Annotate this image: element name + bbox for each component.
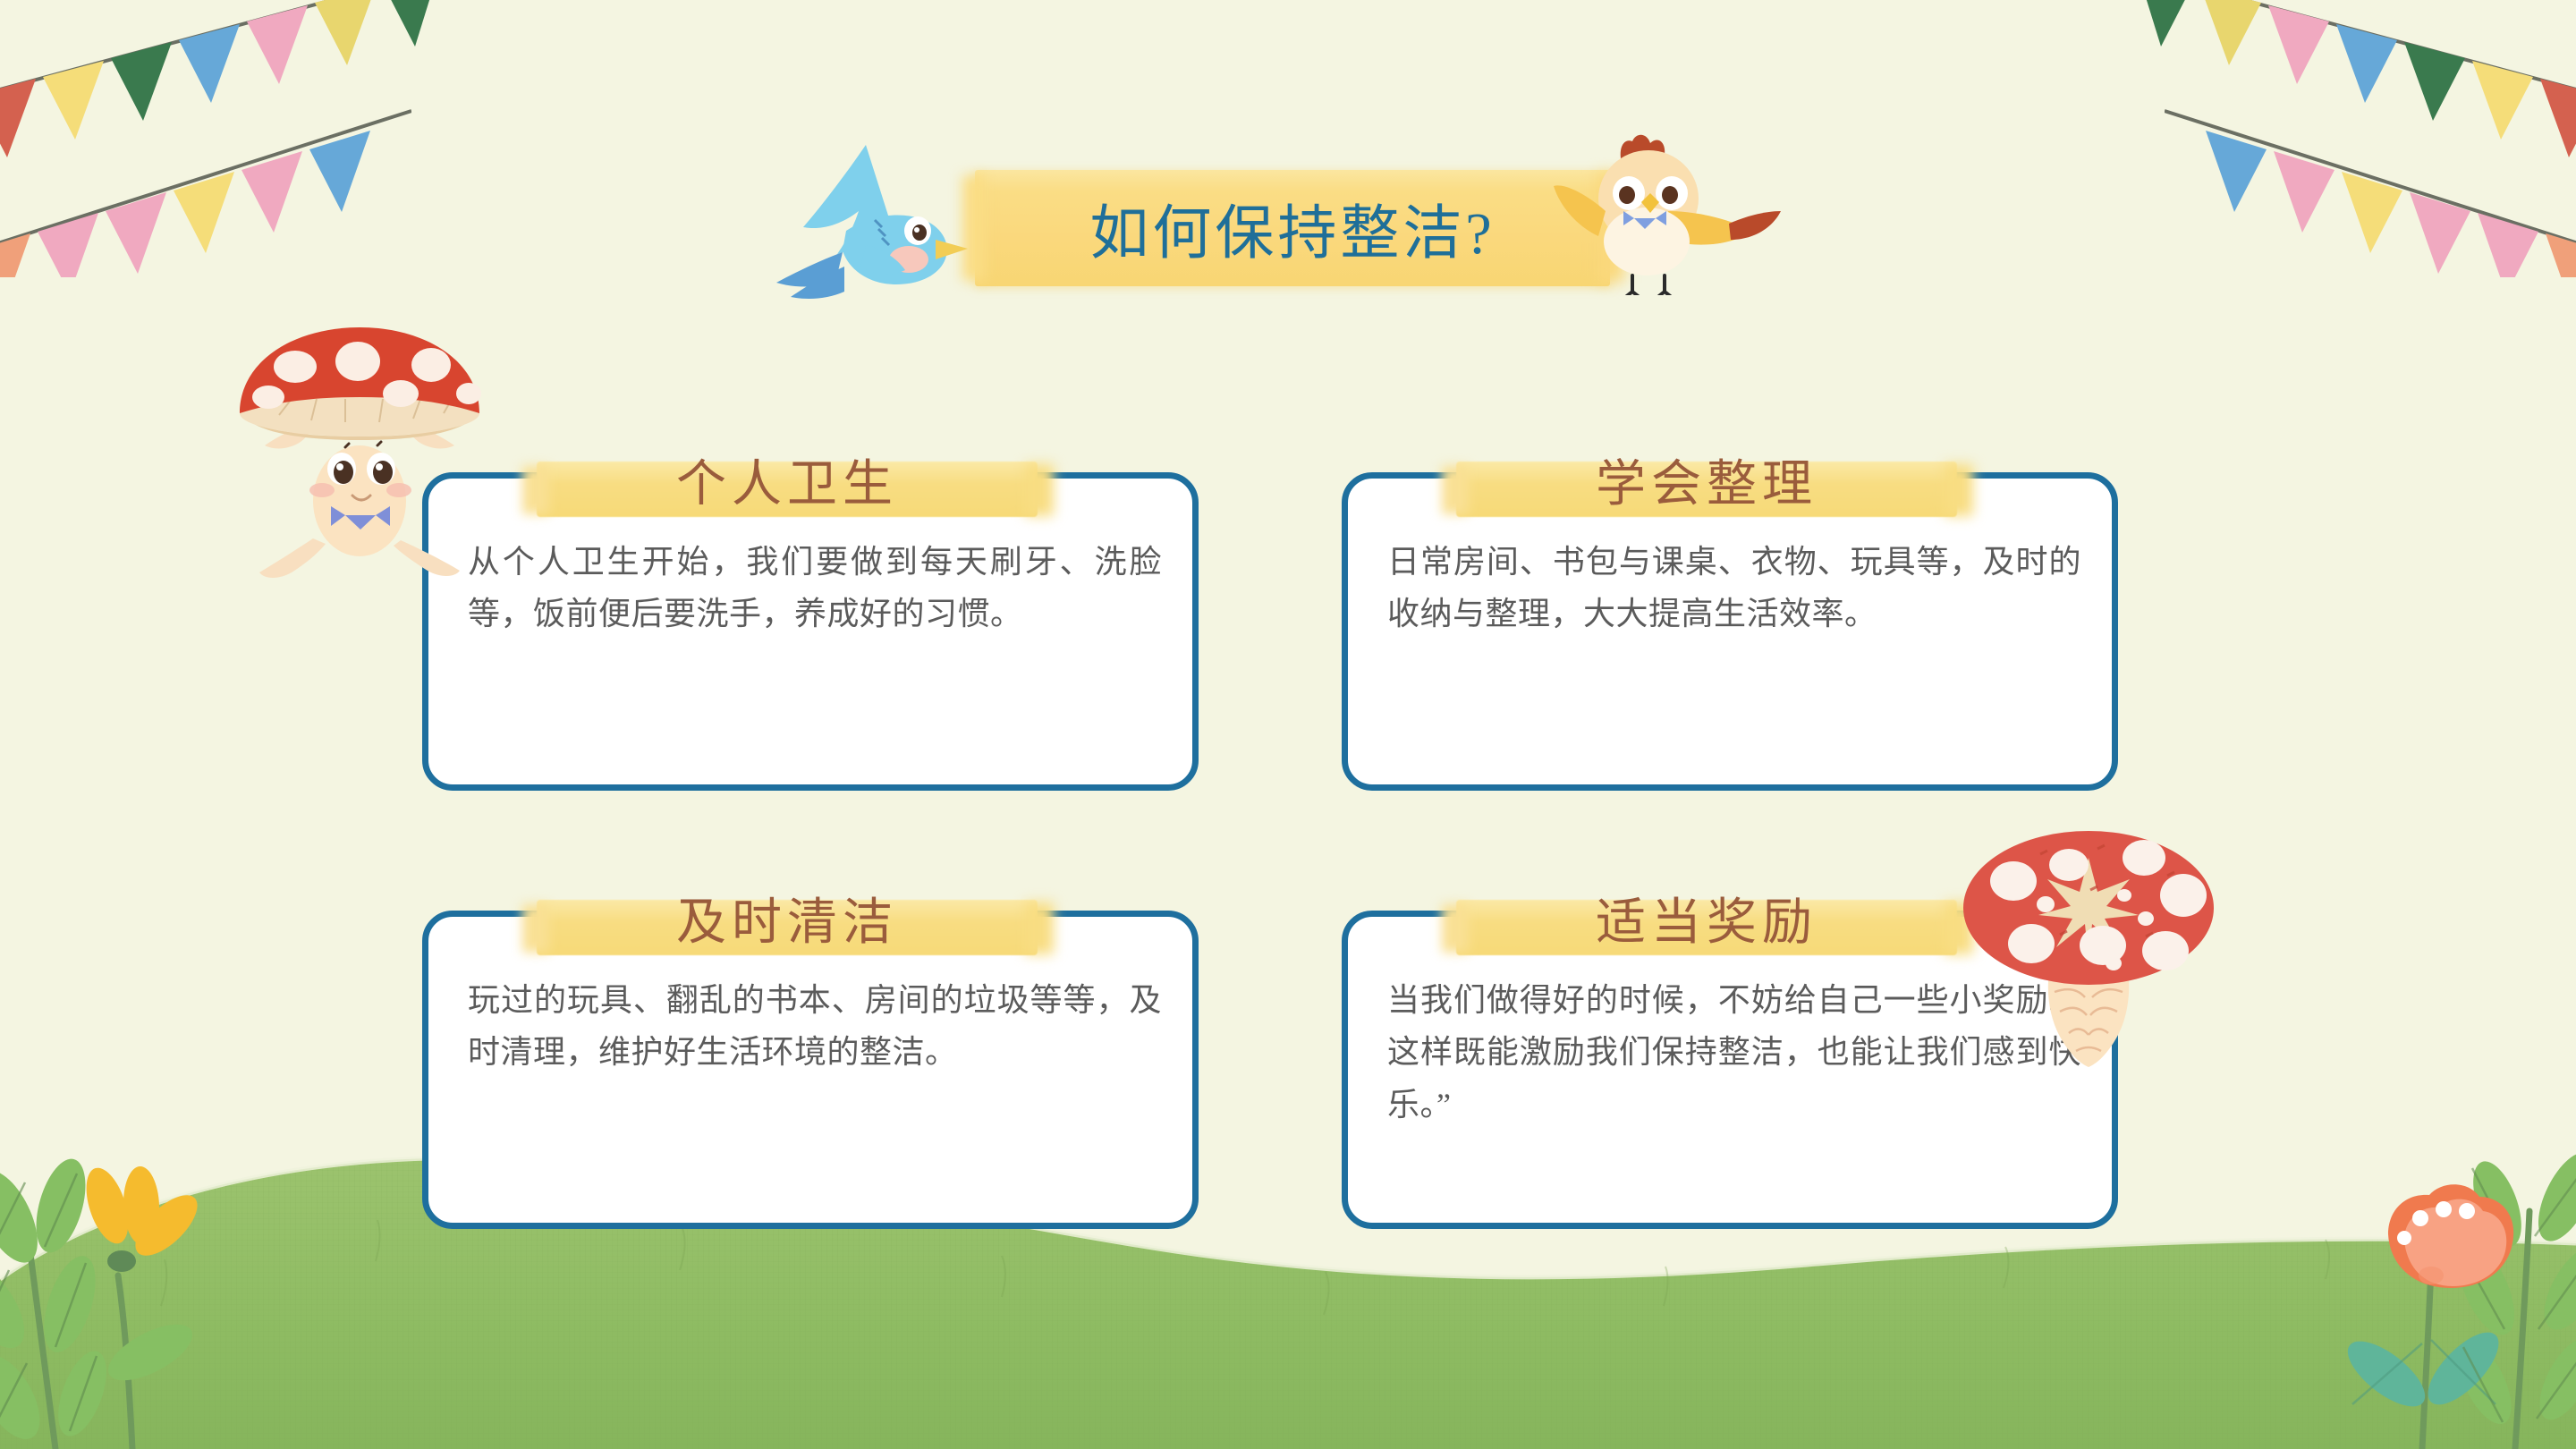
card-body-text: 日常房间、书包与课桌、衣物、玩具等，及时的收纳与整理，大大提高生活效率。 <box>1387 536 2081 640</box>
card-body-text: 从个人卫生开始，我们要做到每天刷牙、洗脸等，饭前便后要洗手，养成好的习惯。 <box>468 536 1162 640</box>
card-title-timely-cleaning: 及时清洁 <box>537 859 1038 959</box>
blue-bird-icon <box>760 134 984 304</box>
slide-canvas: 如何保持整洁? <box>0 0 2576 1449</box>
card-title-label: 及时清洁 <box>676 898 898 959</box>
yellow-flower-icon <box>0 1154 304 1449</box>
card-title-personal-hygiene: 个人卫生 <box>537 420 1038 521</box>
yellow-bird-icon <box>1552 125 1784 295</box>
card-title-label: 学会整理 <box>1596 460 1818 521</box>
bunting-top-right-upper <box>2138 0 2576 188</box>
bunting-top-right-lower <box>2165 63 2576 277</box>
bunting-top-left-upper <box>0 0 438 188</box>
grass-hill <box>0 1127 2576 1449</box>
orange-flower-icon <box>2272 1154 2576 1449</box>
page-title: 如何保持整洁? <box>975 166 1610 290</box>
mushroom-icon <box>1954 809 2223 1078</box>
card-title-label: 个人卫生 <box>676 460 898 521</box>
card-title-proper-reward: 适当奖励 <box>1456 859 1957 959</box>
mushroom-character-icon <box>225 315 494 583</box>
card-title-learn-to-organize: 学会整理 <box>1456 420 1957 521</box>
card-title-label: 适当奖励 <box>1596 898 1818 959</box>
card-body-text: 玩过的玩具、翻乱的书本、房间的垃圾等等，及时清理，维护好生活环境的整洁。 <box>468 974 1162 1079</box>
bunting-top-left-lower <box>0 63 411 277</box>
